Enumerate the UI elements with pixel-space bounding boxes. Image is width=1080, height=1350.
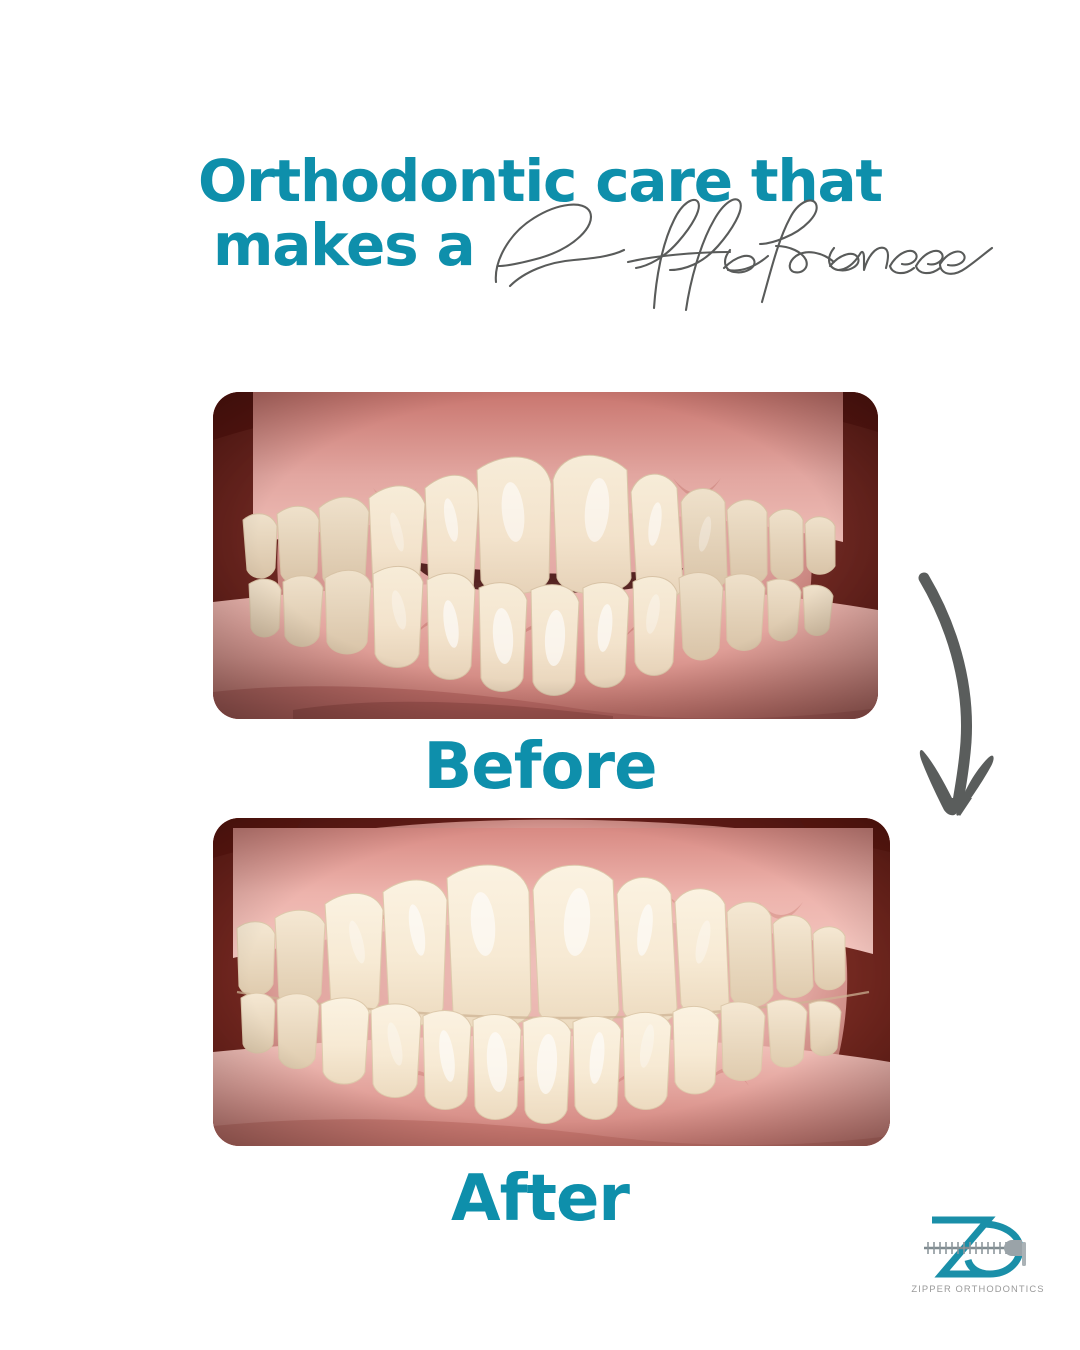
before-photo <box>213 392 878 719</box>
zipper-orthodontics-logo[interactable]: ZIPPER ORTHODONTICS <box>916 1212 1040 1300</box>
logo-wordmark: ZIPPER ORTHODONTICS <box>911 1283 1044 1294</box>
headline-line-2-wrap: makes a <box>0 208 1080 286</box>
poster-canvas: Orthodontic care that makes a <box>0 0 1080 1350</box>
headline-block: Orthodontic care that makes a <box>0 150 1080 286</box>
headline-line-2: makes a <box>213 214 474 276</box>
after-photo <box>213 818 890 1146</box>
curved-down-arrow-icon <box>898 560 1008 822</box>
headline-script-word <box>478 190 968 310</box>
